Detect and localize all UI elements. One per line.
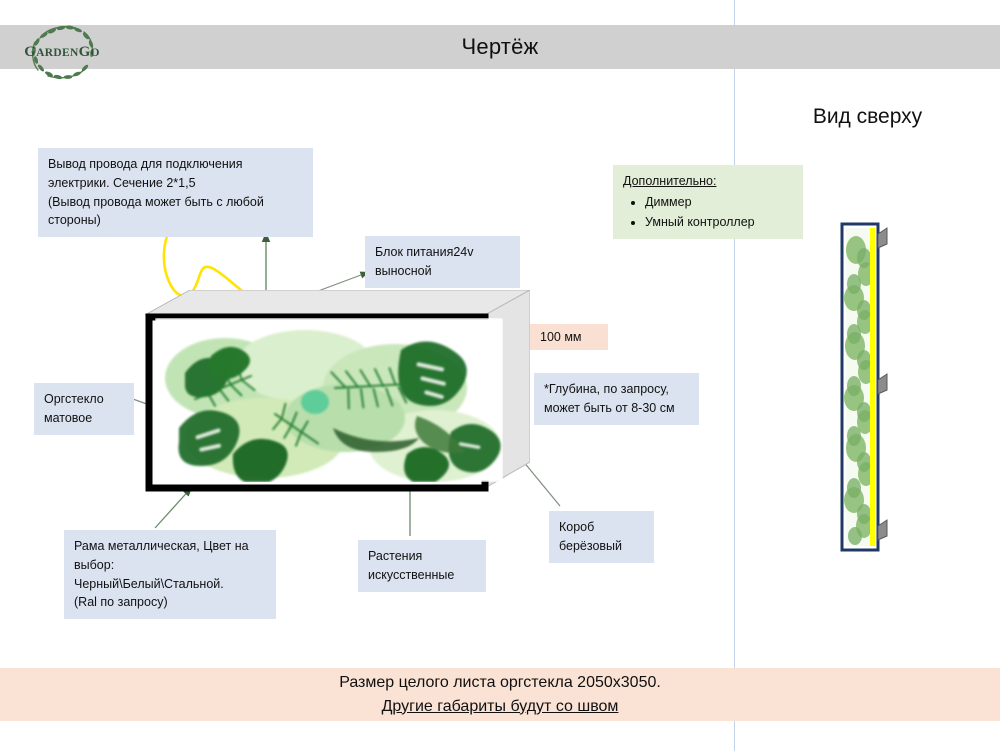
- note-metal-frame[interactable]: Рама металлическая, Цвет на выбор: Черны…: [64, 530, 276, 619]
- note-acrylic-line-1: Оргстекло: [44, 392, 104, 406]
- strip-acrylic-accent: [870, 228, 875, 546]
- laurel-wreath-icon: GARDENGO: [14, 16, 110, 88]
- additional-title: Дополнительно:: [623, 172, 793, 191]
- additional-item-dimmer[interactable]: Диммер: [645, 193, 793, 212]
- brand-logo: GARDENGO: [14, 16, 110, 88]
- note-depth-line-2: может быть от 8-30 см: [544, 401, 675, 415]
- note-power-line-2: выносной: [375, 264, 432, 278]
- note-plants[interactable]: Растения искусственные: [358, 540, 486, 592]
- top-view-strip: [840, 222, 888, 552]
- plant-leaves-icon: [155, 318, 503, 482]
- note-frame-line-3: Черный\Белый\Стальной.: [74, 577, 224, 591]
- top-view-title: Вид сверху: [735, 105, 1000, 129]
- page-title-text: Чертёж: [462, 34, 539, 60]
- note-box-line-1: Короб: [559, 520, 594, 534]
- note-acrylic[interactable]: Оргстекло матовое: [34, 383, 134, 435]
- note-acrylic-line-2: матовое: [44, 411, 92, 425]
- note-birch-box[interactable]: Короб берёзовый: [549, 511, 654, 563]
- note-cable-output[interactable]: Вывод провода для подключения электрики.…: [38, 148, 313, 237]
- foliage-artwork: [155, 318, 503, 482]
- note-power-supply[interactable]: Блок питания24v выносной: [365, 236, 520, 288]
- footer-line-2: Другие габариты будут со швом: [382, 695, 619, 718]
- note-plants-line-1: Растения: [368, 549, 422, 563]
- note-power-line-1: Блок питания24v: [375, 245, 474, 259]
- additional-list: Диммер Умный контроллер: [623, 193, 793, 232]
- note-additional-options[interactable]: Дополнительно: Диммер Умный контроллер: [613, 165, 803, 239]
- additional-item-controller[interactable]: Умный контроллер: [645, 213, 793, 232]
- page-title: Чертёж: [0, 25, 1000, 69]
- dimension-label-text: 100 мм: [540, 328, 582, 347]
- note-frame-line-2: выбор:: [74, 558, 114, 572]
- note-frame-line-1: Рама металлическая, Цвет на: [74, 539, 249, 553]
- note-box-line-2: берёзовый: [559, 539, 622, 553]
- note-cable-line-1: Вывод провода для подключения: [48, 157, 243, 171]
- note-cable-line-3: (Вывод провода может быть с любой: [48, 195, 264, 209]
- dimension-label-box[interactable]: 100 мм: [530, 324, 608, 350]
- note-frame-line-4: (Ral по запросу): [74, 595, 168, 609]
- note-plants-line-2: искусственные: [368, 568, 454, 582]
- box-top-face: [145, 290, 530, 315]
- note-cable-line-4: стороны): [48, 213, 101, 227]
- note-depth[interactable]: *Глубина, по запросу, может быть от 8-30…: [534, 373, 699, 425]
- footer-banner: Размер целого листа оргстекла 2050х3050.…: [0, 668, 1000, 721]
- svg-text:GARDENGO: GARDENGO: [24, 44, 100, 60]
- footer-line-1: Размер целого листа оргстекла 2050х3050.: [339, 671, 661, 694]
- note-depth-line-1: *Глубина, по запросу,: [544, 382, 669, 396]
- note-cable-line-2: электрики. Сечение 2*1,5: [48, 176, 196, 190]
